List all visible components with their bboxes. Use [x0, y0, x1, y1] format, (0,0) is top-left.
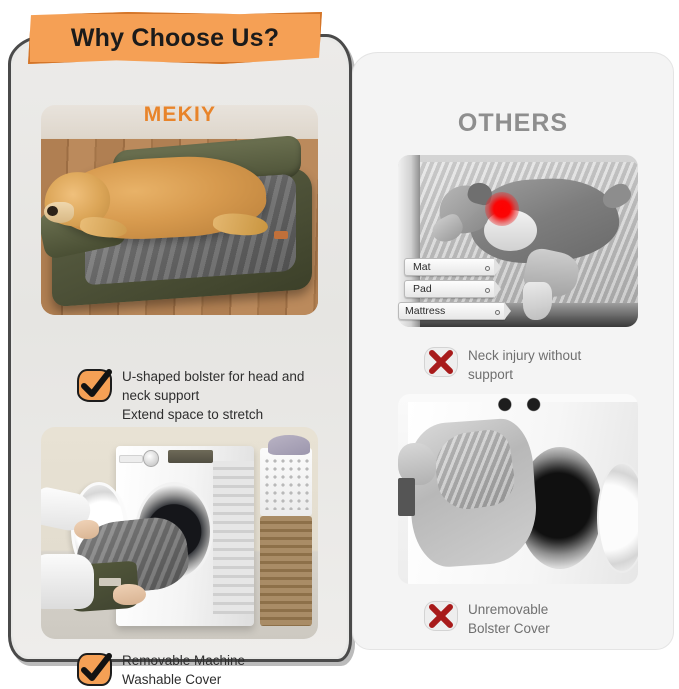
- banner-title: Why Choose Us?: [71, 24, 279, 53]
- photo-golden-retriever-on-orthopedic-bed: [41, 105, 318, 315]
- layer-tag-mattress: Mattress: [398, 302, 506, 320]
- laundry-basket-holes: [263, 457, 310, 510]
- x-icon: [424, 601, 458, 631]
- washer-knobs: [489, 396, 561, 413]
- caption-text: U-shaped bolster for head and neck suppo…: [122, 367, 304, 424]
- caption-neck-injury: Neck injury without support: [424, 346, 656, 384]
- caption-bolster-support: U-shaped bolster for head and neck suppo…: [77, 367, 339, 424]
- dog-nose: [47, 206, 58, 217]
- photo-unremovable-bolster-cover: [398, 394, 638, 584]
- person-hand-upper: [74, 520, 99, 539]
- dark-edge: [398, 478, 415, 516]
- others-heading: OTHERS: [353, 109, 673, 138]
- caption-unremovable-cover: Unremovable Bolster Cover: [424, 600, 656, 638]
- bed-layer-tags: Mat Pad Mattress: [404, 258, 506, 320]
- laundry-pile: [268, 435, 310, 454]
- person-lower-arm: [41, 554, 94, 609]
- bed-brand-tag: [274, 231, 288, 239]
- washer-door-open: [597, 462, 638, 572]
- caption-washable-cover: Removable Machine Washable Cover: [77, 651, 339, 689]
- person-hand-lower: [113, 584, 146, 605]
- wicker-hamper: [260, 516, 313, 626]
- caption-text: Unremovable Bolster Cover: [468, 600, 550, 638]
- check-icon: [77, 369, 112, 402]
- why-choose-us-banner: Why Choose Us?: [28, 12, 322, 64]
- layer-tag-pad: Pad: [404, 280, 496, 298]
- layer-tag-mat: Mat: [404, 258, 496, 276]
- greyhound-front-leg: [523, 282, 552, 320]
- photo-machine-washable-cover: [41, 427, 318, 639]
- control-display: [168, 450, 212, 463]
- x-icon: [424, 347, 458, 377]
- caption-text: Removable Machine Washable Cover: [122, 651, 245, 689]
- brand-label: MEKIY: [11, 103, 349, 127]
- caption-text: Neck injury without support: [468, 346, 581, 384]
- detergent-drawer: [119, 455, 143, 463]
- mekiy-comparison-panel: MEKIY U-shaped bolster for head and neck…: [8, 34, 352, 662]
- washing-machine-side-ribs: [213, 461, 255, 614]
- cover-label: [99, 578, 121, 586]
- check-icon: [77, 653, 112, 686]
